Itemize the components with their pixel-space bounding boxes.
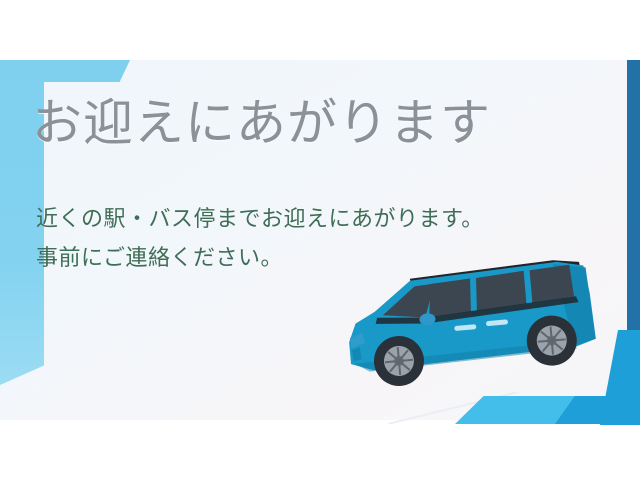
body-line-1: 近くの駅・バス停までお迎えにあがります。 [36,208,484,231]
banner-canvas: お迎えにあがります 近くの駅・バス停までお迎えにあがります。 事前にご連絡くださ… [0,0,640,480]
page-title: お迎えにあがります [32,98,491,148]
body-line-2: 事前にご連絡ください。 [36,247,283,270]
minivan-illustration [322,258,610,390]
